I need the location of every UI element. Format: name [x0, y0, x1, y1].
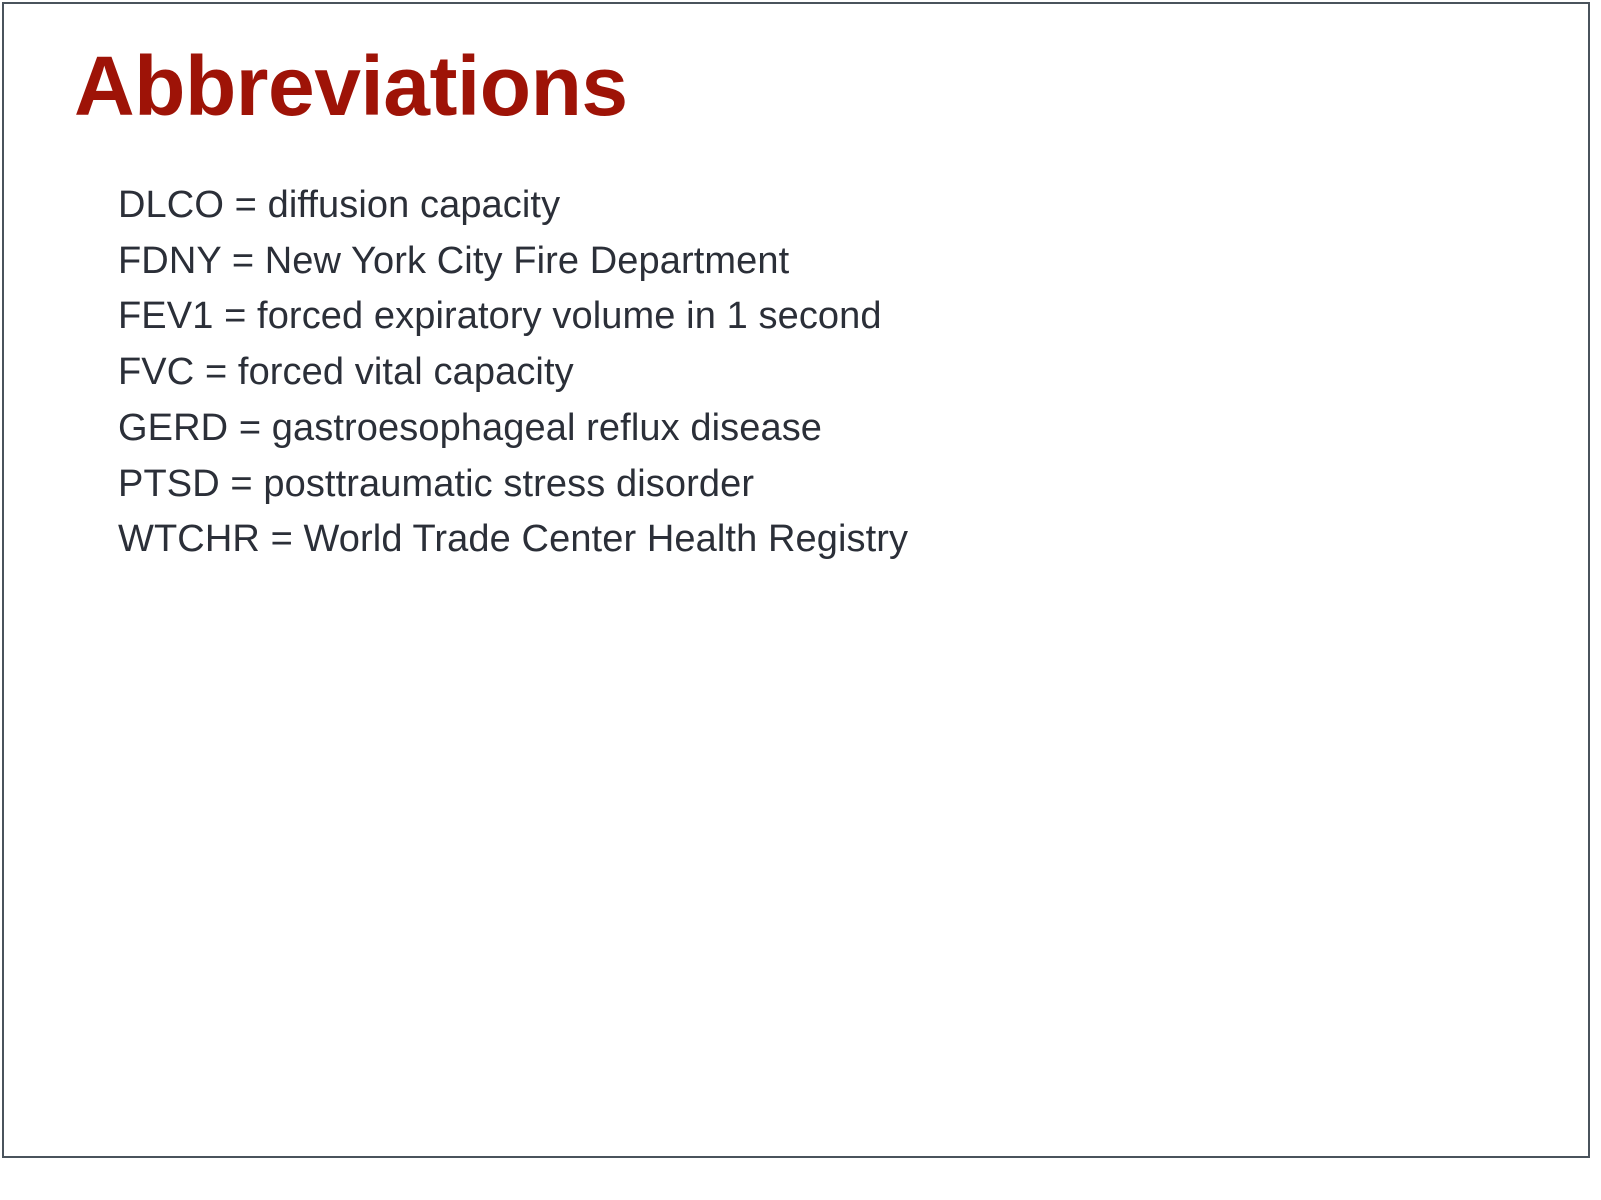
list-item: FDNY = New York City Fire Department — [118, 234, 1458, 290]
list-item: WTCHR = World Trade Center Health Regist… — [118, 512, 1458, 568]
page-title: Abbreviations — [74, 44, 628, 128]
abbreviations-list: DLCO = diffusion capacity FDNY = New Yor… — [118, 178, 1458, 568]
list-item: PTSD = posttraumatic stress disorder — [118, 457, 1458, 513]
list-item: FEV1 = forced expiratory volume in 1 sec… — [118, 289, 1458, 345]
list-item: FVC = forced vital capacity — [118, 345, 1458, 401]
presentation-slide: Abbreviations DLCO = diffusion capacity … — [0, 0, 1601, 1200]
list-item: GERD = gastroesophageal reflux disease — [118, 401, 1458, 457]
slide-content-area: Abbreviations DLCO = diffusion capacity … — [0, 0, 1592, 1160]
list-item: DLCO = diffusion capacity — [118, 178, 1458, 234]
